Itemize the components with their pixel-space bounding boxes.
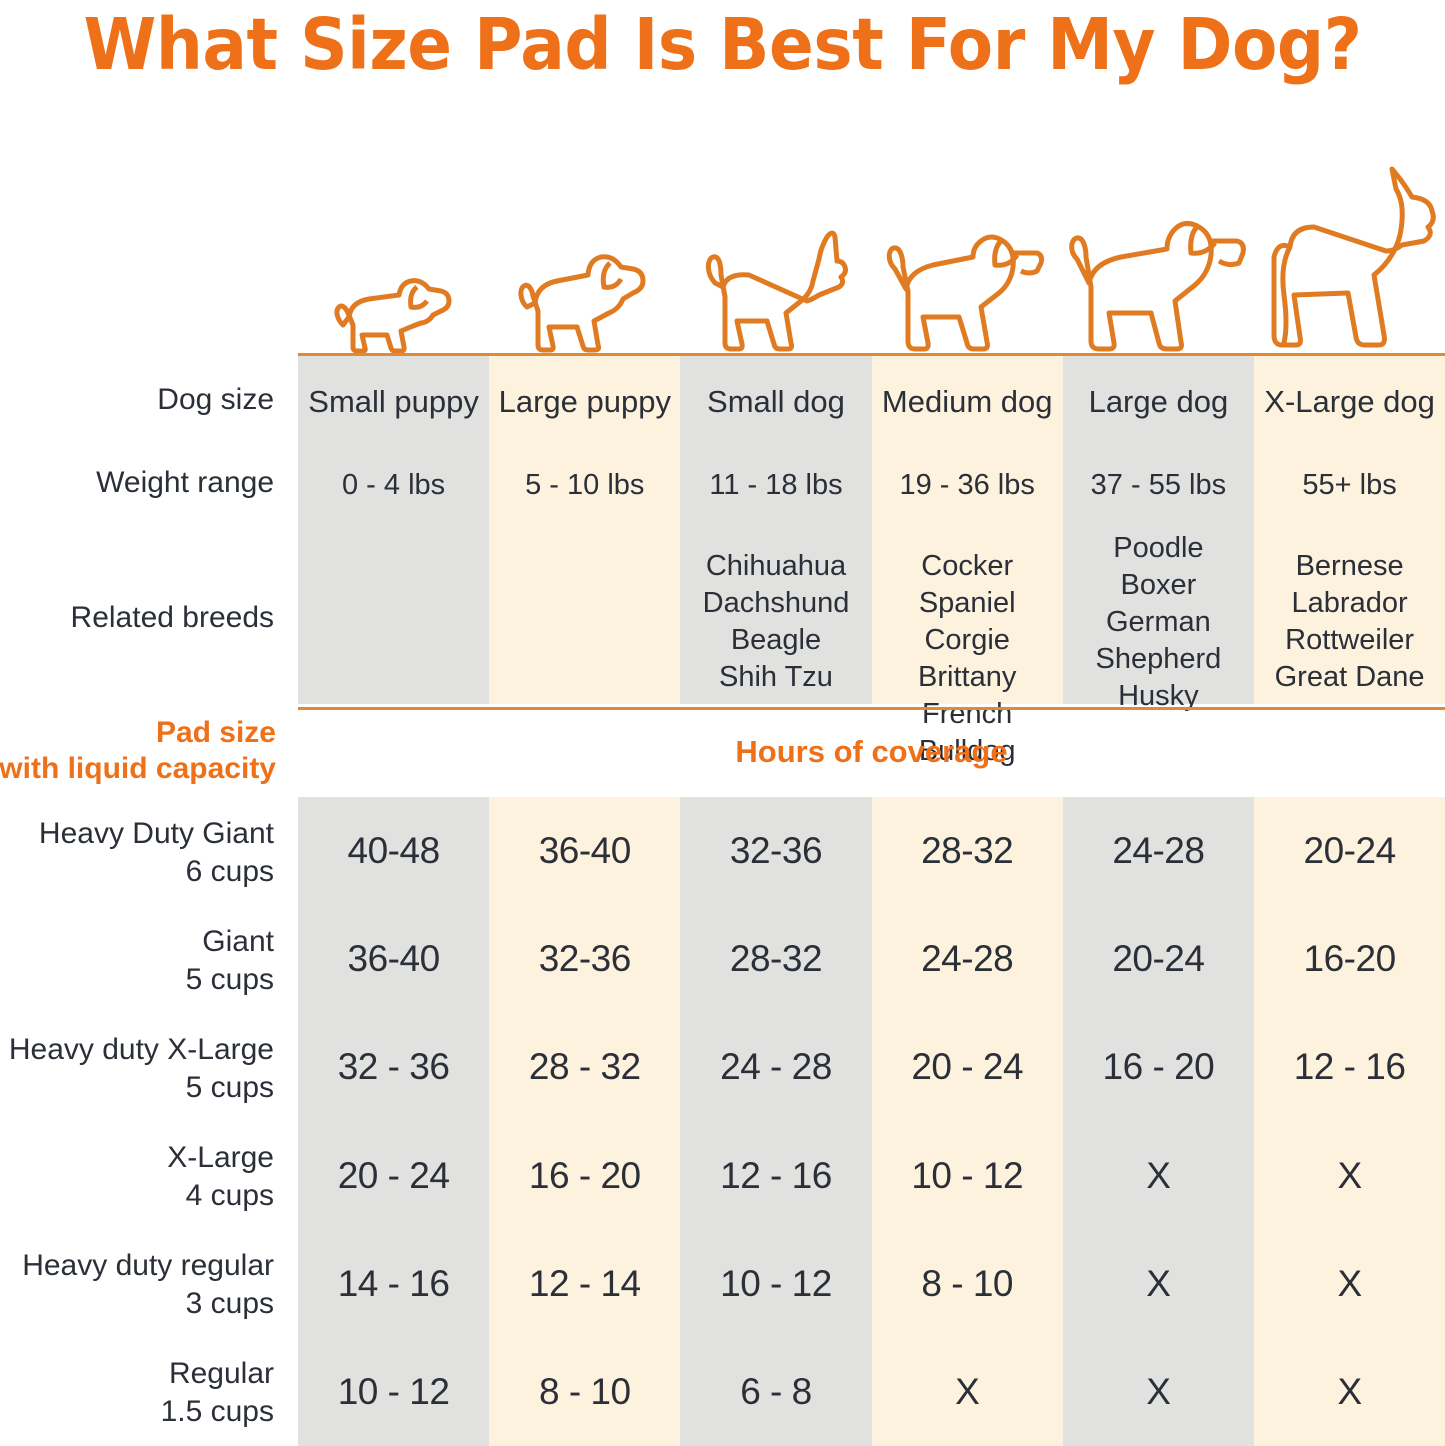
page-title: What Size Pad Is Best For My Dog? xyxy=(51,2,1395,88)
breed-item: Shih Tzu xyxy=(680,659,871,696)
small-puppy-silhouette-icon xyxy=(298,150,489,355)
breed-item: German xyxy=(1063,604,1254,641)
table-cell: 12 - 16 xyxy=(680,1122,871,1230)
cell-weight-0: 0 - 4 lbs xyxy=(298,463,489,507)
cell-weight-3: 19 - 36 lbs xyxy=(872,463,1063,507)
large-dog-silhouette-icon xyxy=(1063,150,1254,355)
table-cell: 8 - 10 xyxy=(872,1230,1063,1338)
pad-size-header: Pad size with liquid capacity xyxy=(0,715,276,787)
table-cell: X xyxy=(1063,1122,1254,1230)
infographic-root: What Size Pad Is Best For My Dog? xyxy=(0,0,1445,1446)
table-cell: 10 - 12 xyxy=(298,1338,489,1446)
table-cell: 6 - 8 xyxy=(680,1338,871,1446)
pad-capacity: 6 cups xyxy=(39,853,274,891)
breed-item: Rottweiler xyxy=(1254,622,1445,659)
table-cell: 8 - 10 xyxy=(489,1338,680,1446)
pad-row-label-2: Heavy duty X-Large 5 cups xyxy=(9,1031,274,1107)
pad-name: Giant xyxy=(186,923,274,961)
breed-item: Brittany xyxy=(872,659,1063,696)
large-puppy-silhouette-icon xyxy=(489,150,680,355)
breed-item: Chihuahua xyxy=(680,548,871,585)
breed-item: Great Dane xyxy=(1254,659,1445,696)
cell-weight-5: 55+ lbs xyxy=(1254,463,1445,507)
table-cell: 10 - 12 xyxy=(680,1230,871,1338)
cell-dog-size-4: Large dog xyxy=(1063,380,1254,424)
table-cell: 12 - 14 xyxy=(489,1230,680,1338)
mid-divider-rule xyxy=(298,707,1445,710)
table-cell: 28 - 32 xyxy=(489,1013,680,1121)
cell-dog-size-5: X-Large dog xyxy=(1254,380,1445,424)
pad-name: Heavy duty regular xyxy=(22,1247,274,1285)
table-cell: 16 - 20 xyxy=(1063,1013,1254,1121)
breed-item: Labrador xyxy=(1254,585,1445,622)
table-cell: 24-28 xyxy=(872,905,1063,1013)
table-cell: X xyxy=(1063,1338,1254,1446)
breed-item: Poodle xyxy=(1063,530,1254,567)
coverage-table: 40-48 36-40 32-36 28-32 24-28 20-24 36-4… xyxy=(298,797,1445,1446)
table-cell: 12 - 16 xyxy=(1254,1013,1445,1121)
breed-item: Beagle xyxy=(680,622,871,659)
table-cell: 24-28 xyxy=(1063,797,1254,905)
table-cell: 20-24 xyxy=(1254,797,1445,905)
breed-item: Boxer xyxy=(1063,567,1254,604)
medium-dog-silhouette-icon xyxy=(872,150,1063,355)
table-cell: 20 - 24 xyxy=(298,1122,489,1230)
cell-breeds-2: Chihuahua Dachshund Beagle Shih Tzu xyxy=(680,548,871,696)
pad-capacity: 4 cups xyxy=(167,1177,274,1215)
table-cell: X xyxy=(1254,1230,1445,1338)
cell-dog-size-1: Large puppy xyxy=(489,380,680,424)
pad-size-line2: with liquid capacity xyxy=(0,751,276,787)
pad-name: Heavy duty X-Large xyxy=(9,1031,274,1069)
dog-silhouette-row xyxy=(298,150,1445,355)
cell-weight-2: 11 - 18 lbs xyxy=(680,463,871,507)
table-cell: 36-40 xyxy=(489,797,680,905)
pad-row-label-0: Heavy Duty Giant 6 cups xyxy=(39,815,274,891)
pad-size-line1: Pad size xyxy=(0,715,276,751)
cell-dog-size-3: Medium dog xyxy=(872,380,1063,424)
table-cell: 20 - 24 xyxy=(872,1013,1063,1121)
table-cell: 20-24 xyxy=(1063,905,1254,1013)
table-cell: 16 - 20 xyxy=(489,1122,680,1230)
pad-capacity: 3 cups xyxy=(22,1285,274,1323)
pad-capacity: 5 cups xyxy=(186,961,274,999)
pad-row-label-1: Giant 5 cups xyxy=(186,923,274,999)
xlarge-dog-silhouette-icon xyxy=(1254,150,1445,355)
pad-row-label-5: Regular 1.5 cups xyxy=(161,1355,274,1431)
cell-breeds-5: Bernese Labrador Rottweiler Great Dane xyxy=(1254,548,1445,696)
breed-item: Shepherd xyxy=(1063,641,1254,678)
hours-of-coverage-header: Hours of coverage xyxy=(298,734,1445,770)
pad-row-label-3: X-Large 4 cups xyxy=(167,1139,274,1215)
table-cell: X xyxy=(1063,1230,1254,1338)
table-cell: X xyxy=(872,1338,1063,1446)
breed-item: Corgie xyxy=(872,622,1063,659)
breed-item: Dachshund xyxy=(680,585,871,622)
row-label-dog-size: Dog size xyxy=(157,382,274,418)
table-cell: 28-32 xyxy=(680,905,871,1013)
pad-name: Heavy Duty Giant xyxy=(39,815,274,853)
pad-name: Regular xyxy=(161,1355,274,1393)
pad-name: X-Large xyxy=(167,1139,274,1177)
table-cell: 32 - 36 xyxy=(298,1013,489,1121)
cell-dog-size-0: Small puppy xyxy=(298,380,489,424)
table-cell: X xyxy=(1254,1122,1445,1230)
table-cell: 32-36 xyxy=(489,905,680,1013)
table-cell: 14 - 16 xyxy=(298,1230,489,1338)
table-cell: 28-32 xyxy=(872,797,1063,905)
small-dog-silhouette-icon xyxy=(680,150,871,355)
table-cell: X xyxy=(1254,1338,1445,1446)
cell-weight-4: 37 - 55 lbs xyxy=(1063,463,1254,507)
breed-item: Cocker Spaniel xyxy=(872,548,1063,622)
row-label-related-breeds: Related breeds xyxy=(71,600,274,636)
cell-dog-size-2: Small dog xyxy=(680,380,871,424)
row-label-weight-range: Weight range xyxy=(96,465,274,501)
table-cell: 32-36 xyxy=(680,797,871,905)
table-cell: 40-48 xyxy=(298,797,489,905)
pad-capacity: 5 cups xyxy=(9,1069,274,1107)
pad-row-label-4: Heavy duty regular 3 cups xyxy=(22,1247,274,1323)
table-cell: 10 - 12 xyxy=(872,1122,1063,1230)
table-cell: 36-40 xyxy=(298,905,489,1013)
cell-weight-1: 5 - 10 lbs xyxy=(489,463,680,507)
breed-item: Bernese xyxy=(1254,548,1445,585)
pad-capacity: 1.5 cups xyxy=(161,1393,274,1431)
table-cell: 16-20 xyxy=(1254,905,1445,1013)
table-cell: 24 - 28 xyxy=(680,1013,871,1121)
cell-breeds-4: Poodle Boxer German Shepherd Husky xyxy=(1063,530,1254,715)
